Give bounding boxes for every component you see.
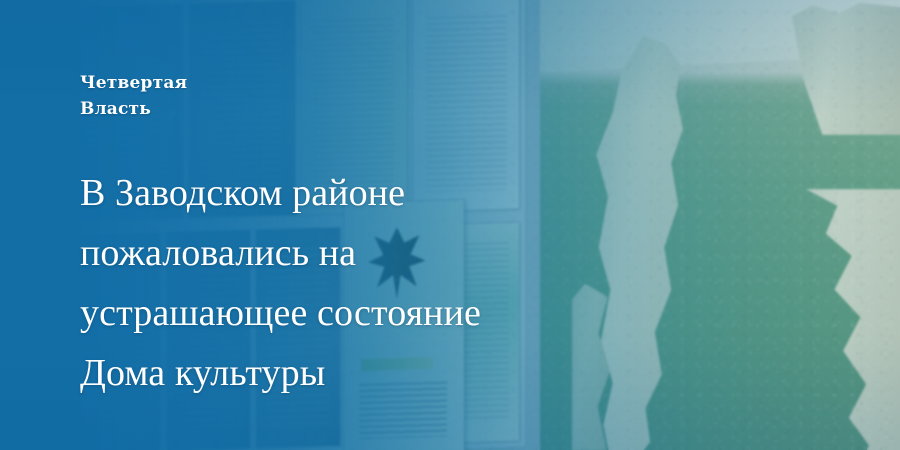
site-logo[interactable]: Четвертая Власть <box>80 70 187 122</box>
site-logo-line-1: Четвертая <box>80 70 187 96</box>
article-teaser-card: ЕНСТ Четвертая Власть В Заводском районе… <box>0 0 900 450</box>
site-logo-line-2: Власть <box>80 96 187 122</box>
headline-line: Дома культуры <box>80 343 720 403</box>
article-headline[interactable]: В Заводском районе пожаловались на устра… <box>80 163 720 403</box>
headline-line: устрашающее состояние <box>80 283 720 343</box>
headline-line: В Заводском районе <box>80 163 720 223</box>
headline-line: пожаловались на <box>80 223 720 283</box>
